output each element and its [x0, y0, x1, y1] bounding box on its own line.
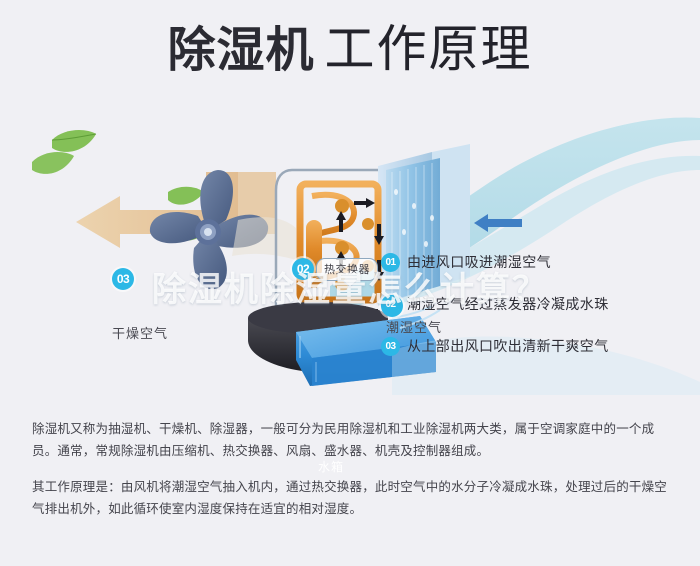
- page-title-light: 工作原理: [325, 21, 533, 77]
- label-dry-air: 干燥空气: [112, 323, 168, 342]
- diagram-badge-02: 02: [292, 258, 314, 280]
- airflow-streak-icon: [232, 217, 296, 260]
- page-title: 除湿机工作原理: [0, 24, 700, 75]
- article-body: 除湿机又称为抽湿机、干燥机、除湿器，一般可分为民用除湿机和工业除湿机两大类，属于…: [32, 418, 672, 520]
- dehumidifier-infographic-page: 除湿机工作原理: [0, 0, 700, 566]
- diagram-badge-03: 03: [112, 268, 134, 290]
- step-text-02: 潮湿空气经过蒸发器冷凝成水珠: [407, 294, 609, 314]
- body-paragraph-2: 其工作原理是：由风机将潮湿空气抽入机内，通过热交换器，此时空气中的水分子冷凝成水…: [32, 476, 672, 520]
- step-badge-02: 02: [381, 295, 400, 314]
- step-text-03: 从上部出风口吹出清新干爽空气: [407, 336, 609, 356]
- process-step-list: 01 由进风口吸进潮湿空气 02 潮湿空气经过蒸发器冷凝成水珠 03 从上部出风…: [381, 249, 681, 375]
- list-item: 02 潮湿空气经过蒸发器冷凝成水珠: [381, 291, 681, 317]
- list-item: 03 从上部出风口吹出清新干爽空气: [381, 333, 681, 359]
- step-badge-03: 03: [381, 337, 400, 356]
- list-item: 01 由进风口吸进潮湿空气: [381, 249, 681, 275]
- step-badge-01: 01: [381, 253, 400, 272]
- callout-heat-exchanger: 热交换器: [316, 258, 378, 281]
- body-paragraph-1: 除湿机又称为抽湿机、干燥机、除湿器，一般可分为民用除湿机和工业除湿机两大类，属于…: [32, 418, 672, 462]
- step-text-01: 由进风口吸进潮湿空气: [407, 252, 551, 272]
- page-title-bold: 除湿机: [167, 24, 314, 77]
